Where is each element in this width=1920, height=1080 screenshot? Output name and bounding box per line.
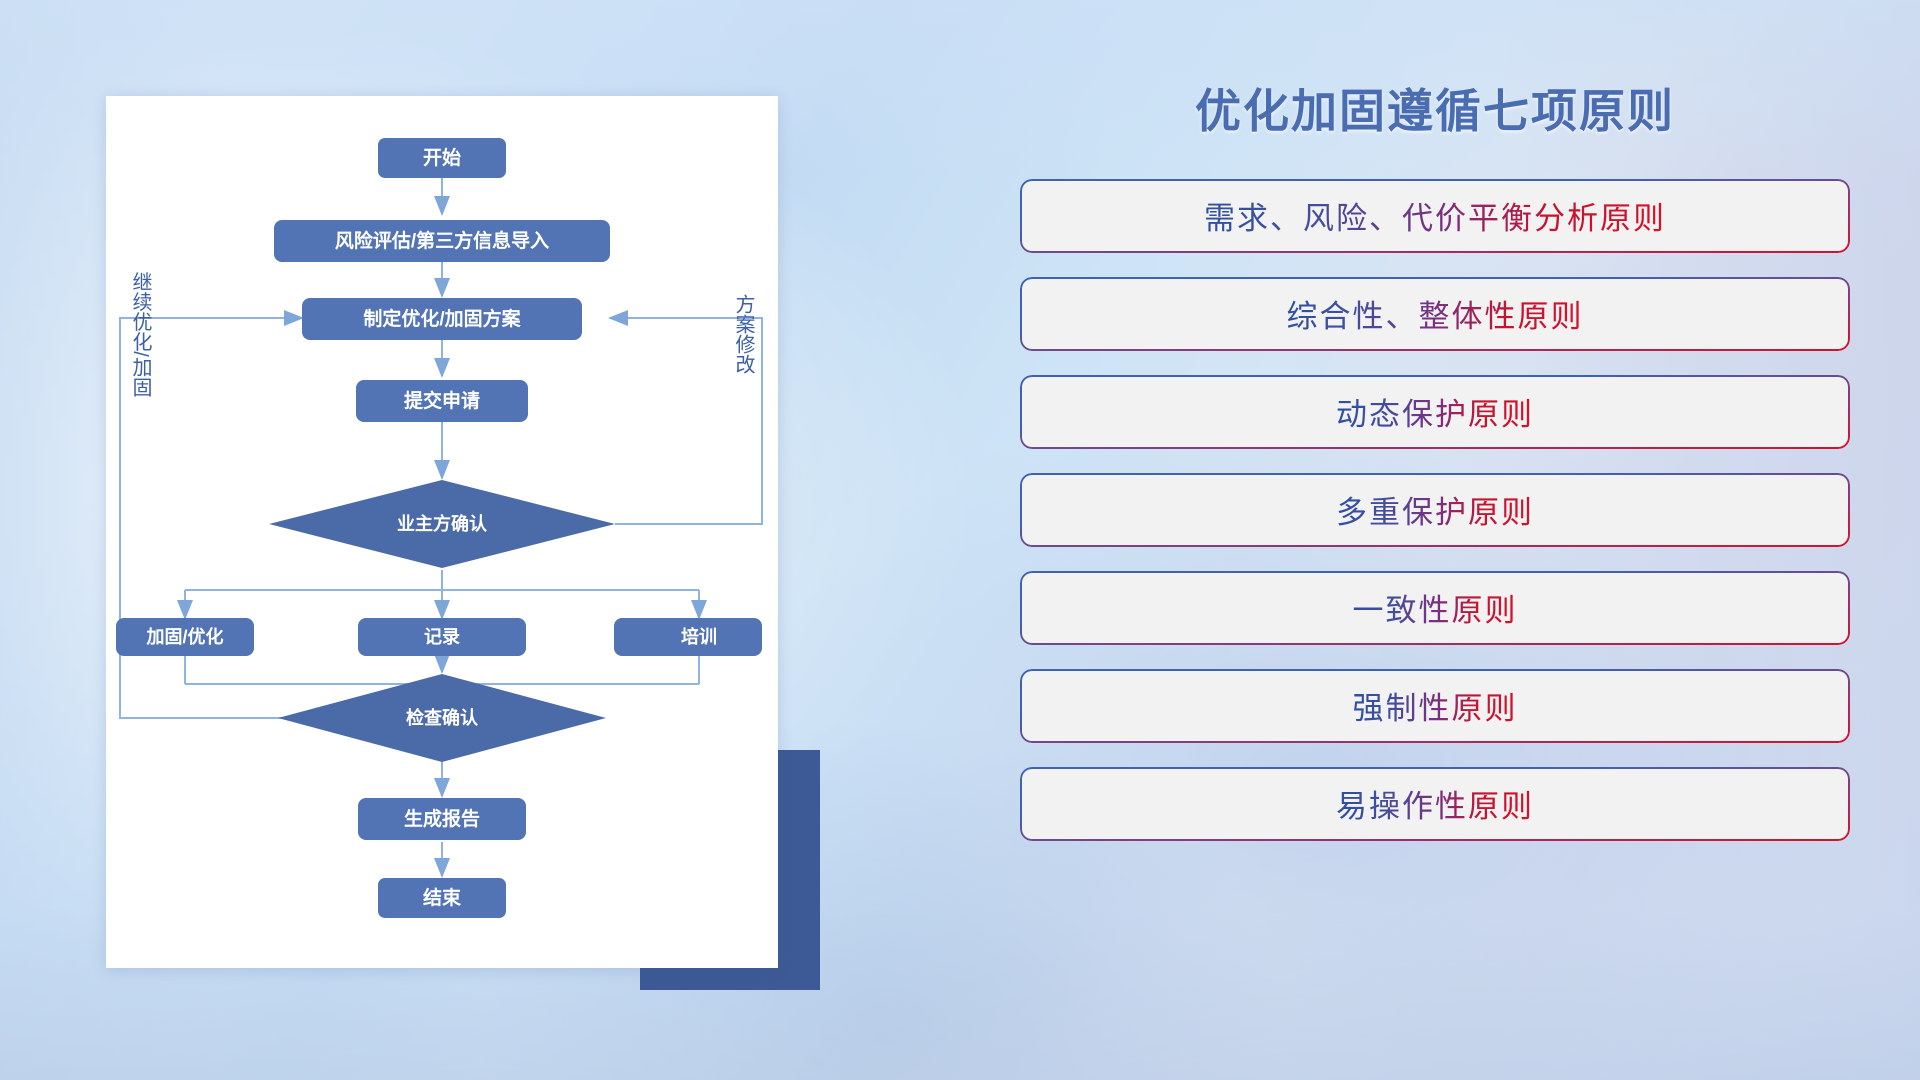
principle-card[interactable]: 强制性原则 xyxy=(1020,669,1850,743)
principle-label: 需求、风险、代价平衡分析原则 xyxy=(1204,193,1666,238)
node-end[interactable]: 结束 xyxy=(378,878,506,918)
node-plan[interactable]: 制定优化/加固方案 xyxy=(302,298,582,340)
node-reinforce-label: 加固/优化 xyxy=(145,626,223,647)
node-training-label: 培训 xyxy=(681,626,717,647)
node-risk-assessment[interactable]: 风险评估/第三方信息导入 xyxy=(274,220,610,262)
principle-card[interactable]: 易操作性原则 xyxy=(1020,767,1850,841)
node-submit[interactable]: 提交申请 xyxy=(356,380,528,422)
panel-title: 优化加固遵循七项原则 xyxy=(1020,86,1850,137)
node-risk-assessment-label: 风险评估/第三方信息导入 xyxy=(335,229,549,252)
node-start-label: 开始 xyxy=(423,146,461,169)
node-check-confirm-label: 检查确认 xyxy=(406,707,479,728)
node-plan-label: 制定优化/加固方案 xyxy=(363,307,521,330)
principles-panel: 优化加固遵循七项原则 需求、风险、代价平衡分析原则 综合性、整体性原则 动态保护… xyxy=(1020,86,1850,1006)
loop-label-right: 方案修改 xyxy=(732,294,755,374)
principle-label: 多重保护原则 xyxy=(1336,487,1534,532)
principle-label: 易操作性原则 xyxy=(1336,781,1534,826)
principles-list: 需求、风险、代价平衡分析原则 综合性、整体性原则 动态保护原则 多重保护原则 一… xyxy=(1020,179,1850,841)
principle-label: 一致性原则 xyxy=(1353,585,1518,630)
node-report-label: 生成报告 xyxy=(404,807,480,830)
node-training[interactable]: 培训 xyxy=(614,618,762,656)
principle-card[interactable]: 综合性、整体性原则 xyxy=(1020,277,1850,351)
node-end-label: 结束 xyxy=(423,886,462,909)
node-reinforce[interactable]: 加固/优化 xyxy=(116,618,254,656)
principle-card[interactable]: 多重保护原则 xyxy=(1020,473,1850,547)
node-report[interactable]: 生成报告 xyxy=(358,798,526,840)
node-owner-confirm-label: 业主方确认 xyxy=(397,513,488,534)
node-start[interactable]: 开始 xyxy=(378,138,506,178)
principle-label: 动态保护原则 xyxy=(1336,389,1534,434)
node-submit-label: 提交申请 xyxy=(404,389,480,412)
principle-card[interactable]: 需求、风险、代价平衡分析原则 xyxy=(1020,179,1850,253)
flowchart-card: 开始 风险评估/第三方信息导入 制定优化/加固方案 提交申请 业主方确认 加固/… xyxy=(106,96,778,968)
principle-label: 综合性、整体性原则 xyxy=(1287,291,1584,336)
principle-card[interactable]: 一致性原则 xyxy=(1020,571,1850,645)
principle-label: 强制性原则 xyxy=(1353,683,1518,728)
node-check-confirm[interactable]: 检查确认 xyxy=(278,674,606,762)
node-owner-confirm[interactable]: 业主方确认 xyxy=(269,480,615,568)
node-record[interactable]: 记录 xyxy=(358,618,526,656)
loop-label-left: 继续优化/加固 xyxy=(129,271,152,397)
node-record-label: 记录 xyxy=(424,627,460,647)
principle-card[interactable]: 动态保护原则 xyxy=(1020,375,1850,449)
